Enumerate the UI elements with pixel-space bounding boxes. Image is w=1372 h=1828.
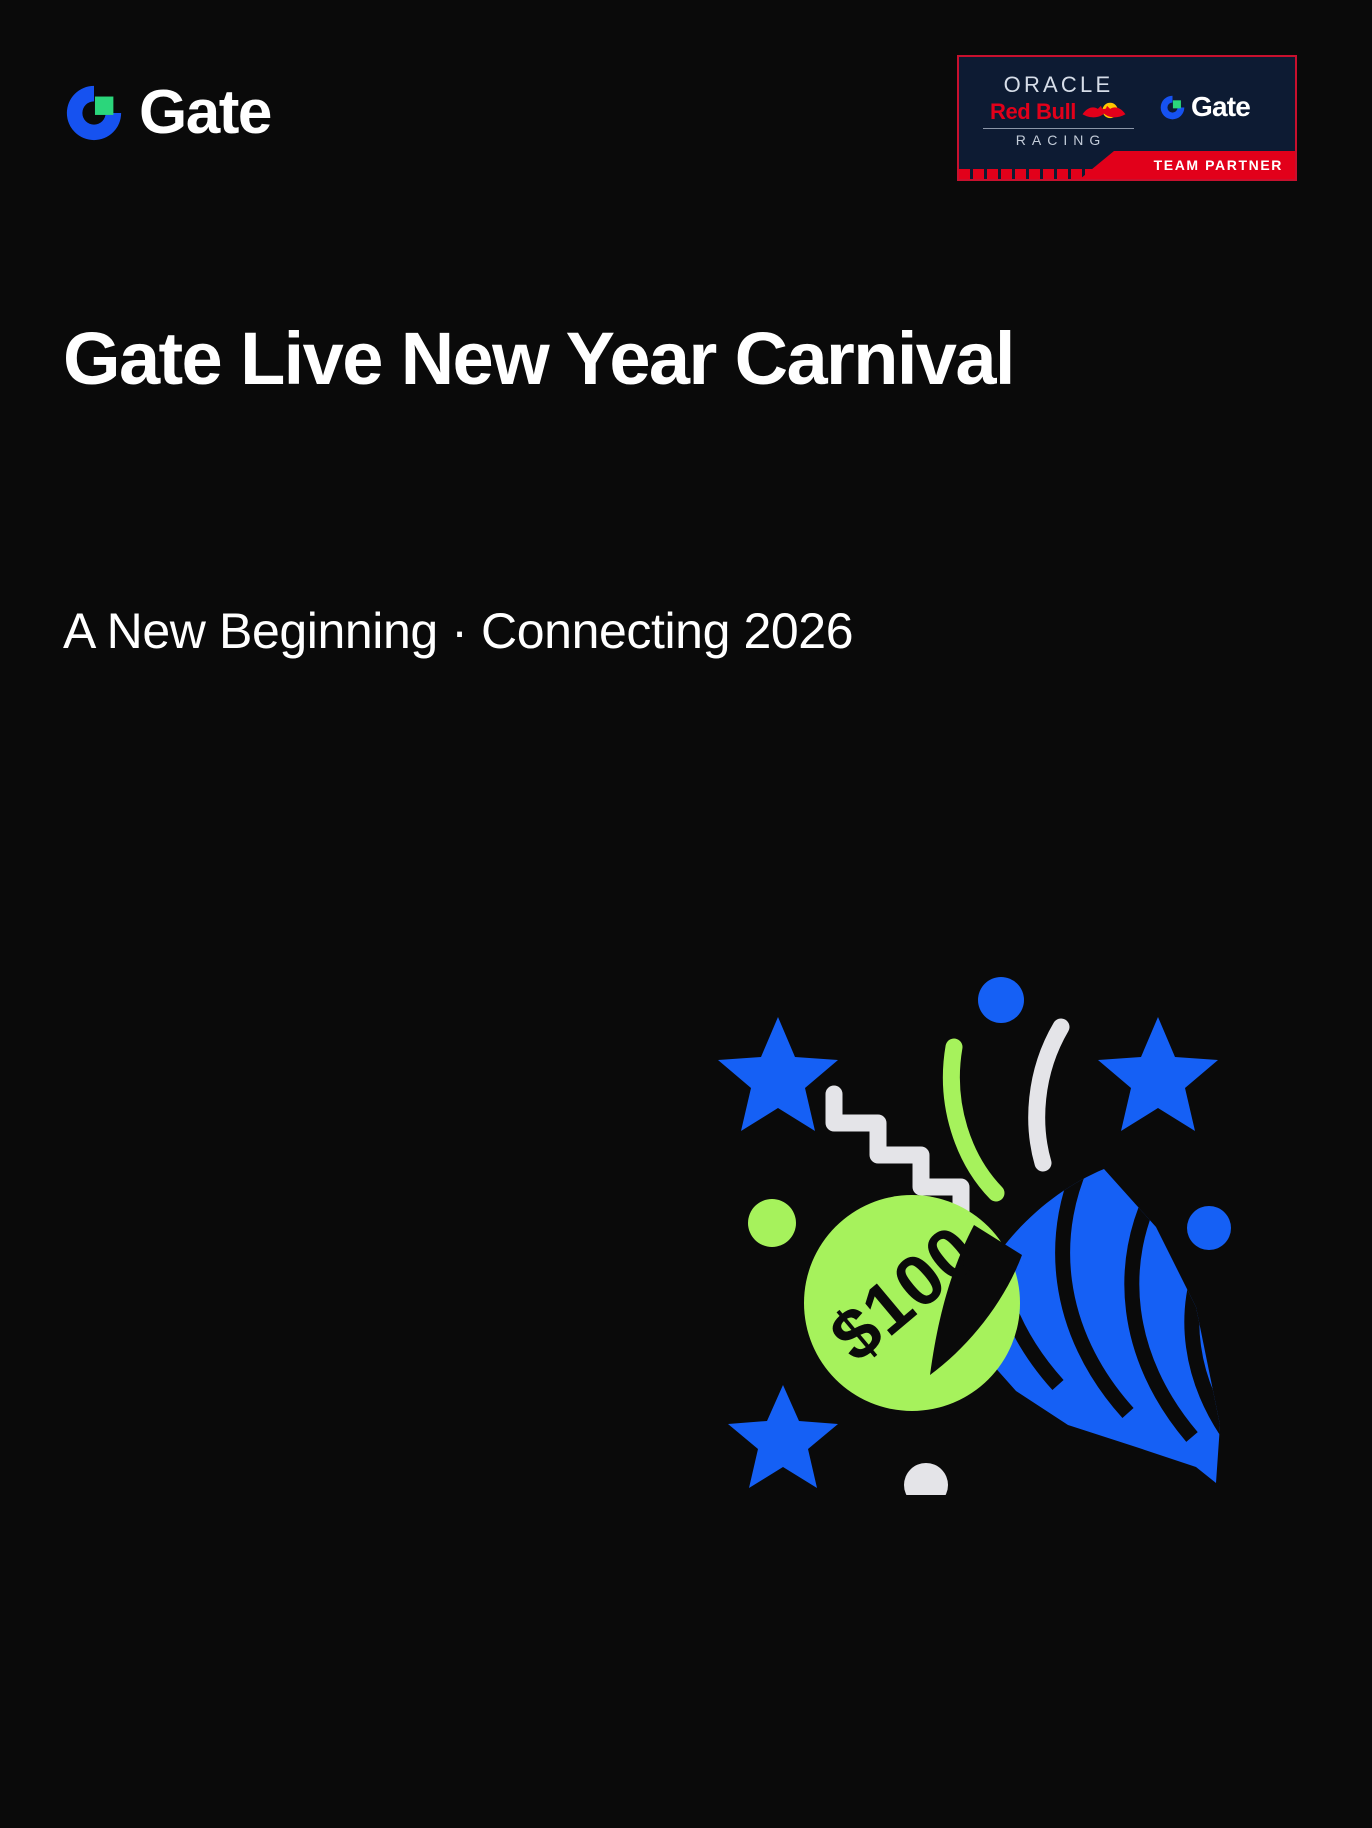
partner-badge-inner: ORACLE Red Bull RACING: [959, 57, 1295, 179]
star-bottom-left-icon: [728, 1385, 838, 1488]
page-root: Gate ORACLE Red Bull RACING: [0, 0, 1372, 1828]
dot-blue-top-icon: [978, 977, 1024, 1023]
star-top-right-icon: [1098, 1017, 1218, 1131]
red-bull-charging-bulls-icon: [1081, 102, 1127, 122]
red-bull-row: Red Bull: [981, 101, 1136, 123]
gate-logo-mark-icon: [1159, 94, 1186, 121]
oracle-label: ORACLE: [981, 74, 1136, 96]
oracle-red-bull-racing-partner-badge[interactable]: ORACLE Red Bull RACING: [957, 55, 1297, 181]
gate-brand-logo[interactable]: Gate: [63, 82, 271, 144]
page-title: Gate Live New Year Carnival: [63, 318, 1014, 401]
racing-label: RACING: [981, 133, 1136, 147]
arc-streamer-grey-icon: [1037, 1027, 1061, 1163]
gate-logo-mark-icon: [63, 82, 125, 144]
party-popper-illustration: $100: [716, 955, 1256, 1495]
badge-gate-logo: Gate: [1159, 93, 1250, 121]
red-bull-racing-lockup: ORACLE Red Bull RACING: [981, 74, 1136, 147]
badge-gate-wordmark: Gate: [1191, 93, 1250, 121]
page-subtitle: A New Beginning · Connecting 2026: [63, 603, 853, 661]
arc-streamer-lime-icon: [951, 1047, 996, 1193]
team-partner-label: TEAM PARTNER: [1154, 158, 1283, 172]
badge-divider: [983, 128, 1134, 129]
star-top-left-icon: [718, 1017, 838, 1131]
dot-blue-right-icon: [1187, 1206, 1231, 1250]
coin-badge: $100: [804, 1195, 1022, 1411]
gate-wordmark: Gate: [139, 82, 271, 144]
dot-grey-bottom-icon: [904, 1463, 948, 1495]
dot-lime-left-icon: [748, 1199, 796, 1247]
team-partner-strip: TEAM PARTNER: [1080, 151, 1295, 179]
red-bull-label: Red Bull: [990, 101, 1076, 123]
